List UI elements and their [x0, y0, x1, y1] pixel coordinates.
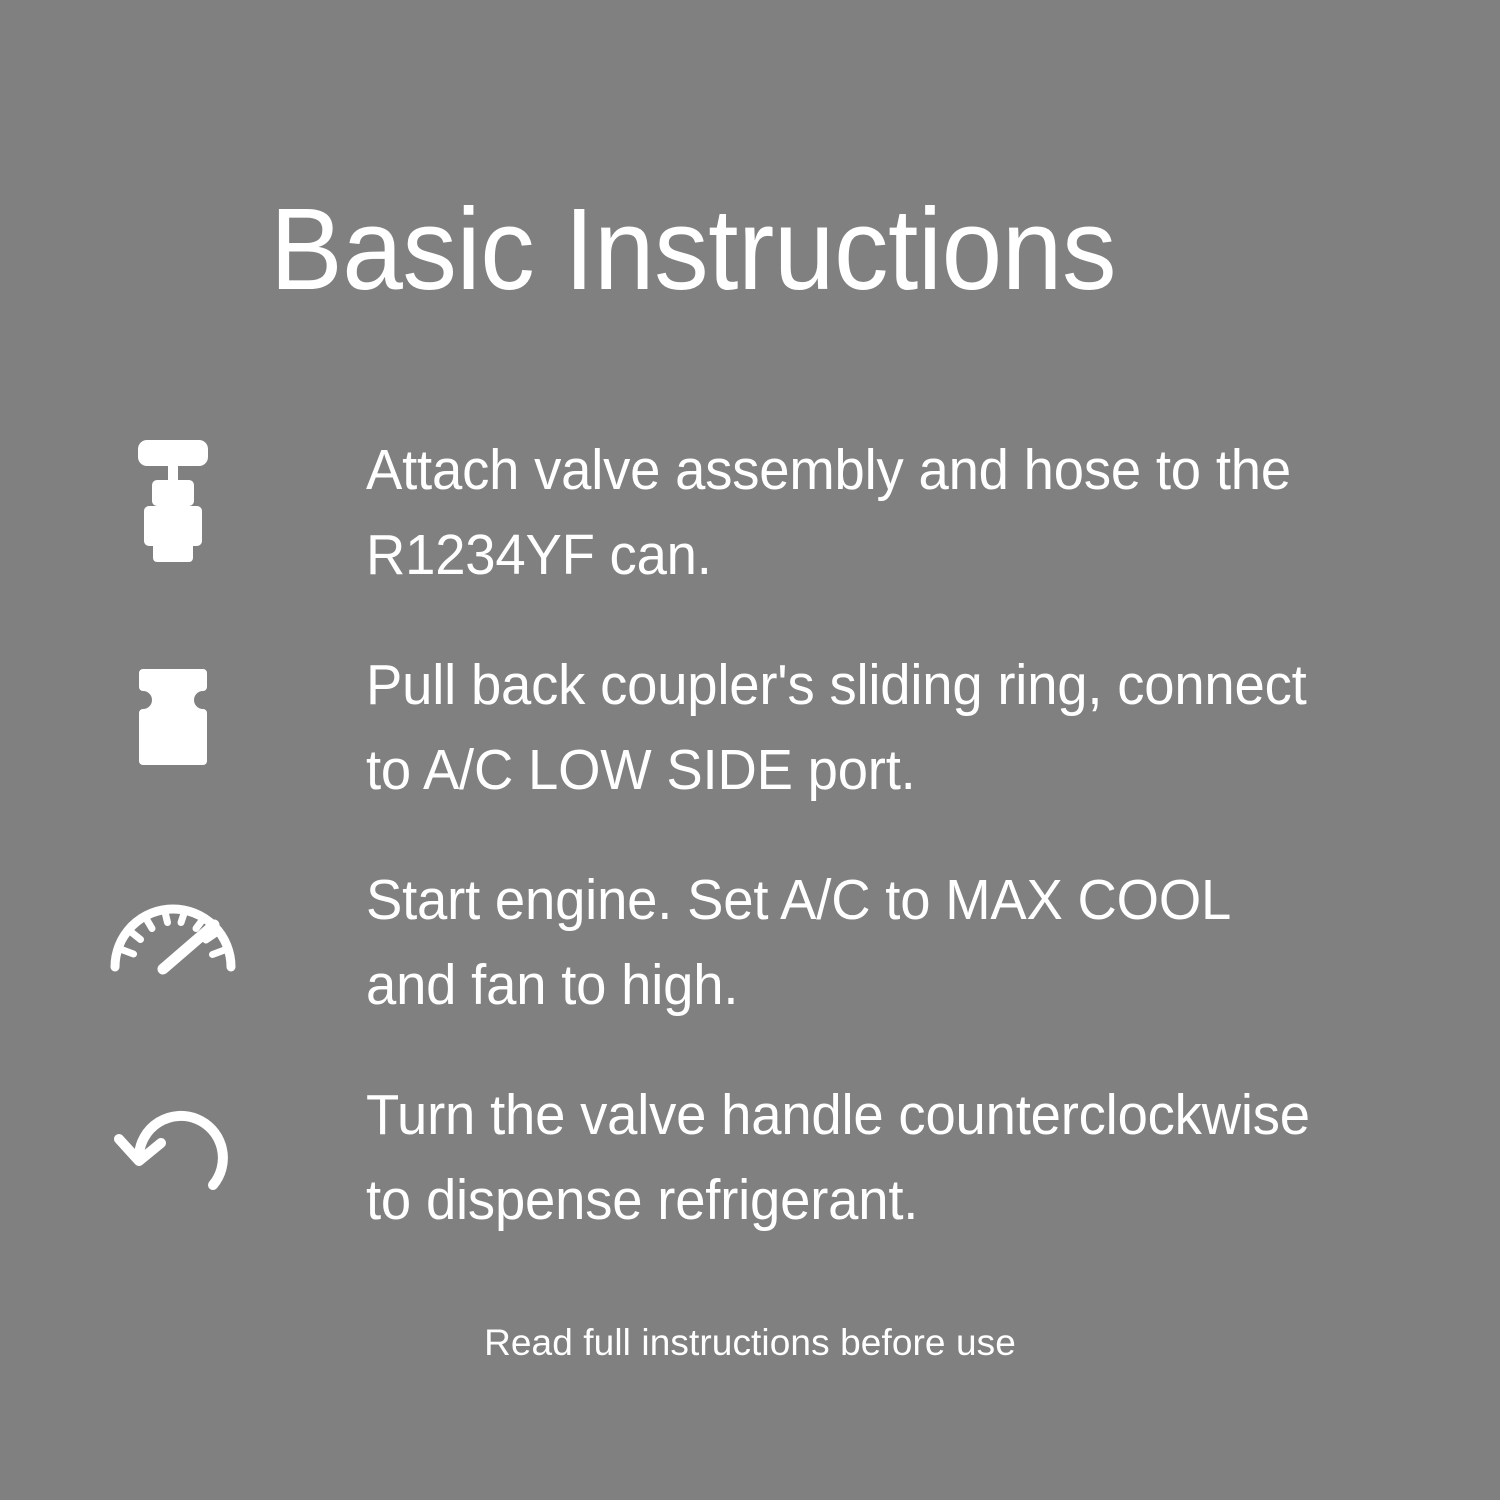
- step-text-2: Pull back coupler's sliding ring, connec…: [366, 643, 1331, 813]
- valve-handle-icon: [105, 430, 240, 570]
- step-text-1: Attach valve assembly and hose to the R1…: [366, 428, 1331, 598]
- gauge-icon: [105, 860, 240, 1000]
- steps-list: Attach valve assembly and hose to the R1…: [0, 430, 1500, 1290]
- instructions-poster: Basic Instructions Attach valve assembly…: [0, 0, 1500, 1500]
- quick-coupler-icon: [105, 645, 240, 785]
- step-item-2: Pull back coupler's sliding ring, connec…: [0, 645, 1500, 860]
- step-text-4: Turn the valve handle counterclockwise t…: [366, 1073, 1331, 1243]
- step-item-3: Start engine. Set A/C to MAX COOL and fa…: [0, 860, 1500, 1075]
- page-title: Basic Instructions: [270, 186, 1191, 316]
- footer-note: Read full instructions before use: [0, 1318, 1500, 1368]
- step-item-1: Attach valve assembly and hose to the R1…: [0, 430, 1500, 645]
- counterclockwise-rotate-icon: [105, 1075, 240, 1215]
- step-text-3: Start engine. Set A/C to MAX COOL and fa…: [366, 858, 1331, 1028]
- step-item-4: Turn the valve handle counterclockwise t…: [0, 1075, 1500, 1290]
